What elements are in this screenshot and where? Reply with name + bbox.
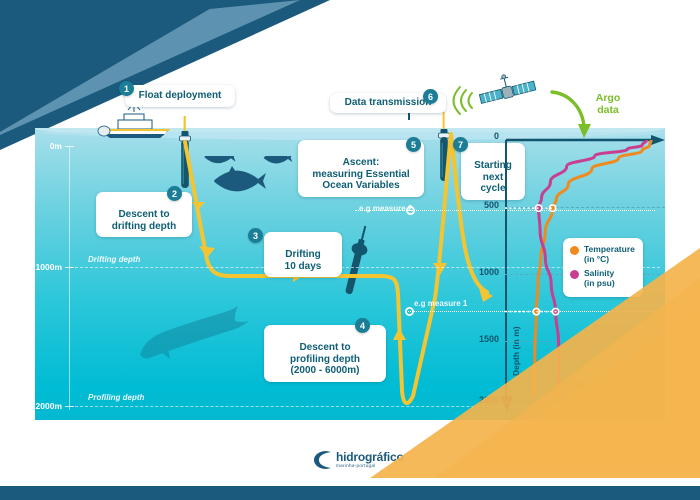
badge-step-4: 4 [355, 318, 370, 333]
callout-step-6-label: Data transmission [345, 97, 432, 108]
badge-step-3-number: 3 [253, 231, 258, 241]
callout-step-2-label: Descent to drifting depth [112, 209, 176, 232]
badge-step-3: 3 [248, 228, 263, 243]
legend-salinity-text: Salinity (in psu) [584, 268, 615, 289]
chart-legend: Temperature (in °C) Salinity (in psu) [563, 238, 643, 297]
drifting-depth-caption: Drifting depth [88, 255, 140, 264]
copyright-notice: © Thomas Haessig [573, 398, 638, 408]
callout-step-5-label: Ascent: measuring Essential Ocean Variab… [312, 157, 409, 192]
bottom-bar [0, 486, 700, 500]
legend-temperature-name: Temperature [584, 244, 635, 254]
infographic-canvas: 0m 1000m 2000m Drifting depth Profiling … [0, 0, 700, 500]
chart-measure-marker [533, 308, 539, 314]
legend-temperature-unit: (in °C) [584, 254, 609, 264]
chart-ytick-1500: 1500 [465, 334, 499, 344]
badge-step-5-number: 5 [411, 140, 416, 150]
badge-step-6-number: 6 [428, 92, 433, 102]
callout-step-3[interactable]: Drifting 10 days [264, 232, 342, 277]
chart-measure-marker [535, 205, 541, 211]
badge-step-7-number: 7 [458, 140, 463, 150]
badge-step-1: 1 [119, 81, 134, 96]
legend-salinity-name: Salinity [584, 268, 614, 278]
legend-salinity-unit: (in psu) [584, 278, 615, 288]
legend-item-salinity: Salinity (in psu) [570, 268, 635, 289]
top-right-spacer [610, 0, 700, 60]
legend-temperature-text: Temperature (in °C) [584, 244, 635, 265]
measure-1-label: e.g measure 1 [414, 299, 467, 308]
depth-tick-0 [65, 146, 74, 147]
satellite-icon [452, 74, 544, 118]
depth-label-1000: 1000m [20, 262, 62, 272]
callout-step-5[interactable]: Ascent: measuring Essential Ocean Variab… [298, 140, 424, 197]
temperature-swatch-icon [570, 246, 579, 255]
chart-ytick-1000: 1000 [465, 267, 499, 277]
badge-step-5: 5 [406, 137, 421, 152]
logo-mark-icon [312, 448, 334, 472]
callout-step-1-label: Float deployment [139, 90, 222, 101]
depth-label-0: 0m [20, 141, 62, 151]
badge-step-4-number: 4 [360, 321, 365, 331]
badge-step-2-number: 2 [172, 189, 177, 199]
argo-profile-chart: 0 500 1000 1500 2000 Depth (in m) Temper… [505, 140, 665, 408]
argo-data-label: Argo data [578, 92, 638, 116]
logo-text-block: hidrográfico marinha-portugal [336, 451, 404, 469]
profiling-depth-caption: Profiling depth [88, 393, 144, 402]
chart-ytick-2000: 2000 [465, 395, 499, 405]
callout-step-4-label: Descent to profiling depth (2000 - 6000m… [290, 342, 360, 377]
callout-step-4[interactable]: Descent to profiling depth (2000 - 6000m… [264, 325, 386, 382]
logo-subtitle: marinha-portugal [336, 464, 404, 469]
chart-ytick-500: 500 [465, 200, 499, 210]
depth-label-2000: 2000m [20, 401, 62, 411]
logo-title: hidrográfico [336, 451, 404, 463]
chart-ytick-0: 0 [465, 131, 499, 141]
callout-step-3-label: Drifting 10 days [285, 249, 322, 272]
badge-step-2: 2 [167, 186, 182, 201]
legend-item-temperature: Temperature (in °C) [570, 244, 635, 265]
callout-step-1[interactable]: Float deployment [125, 85, 235, 107]
depth-scale-axis [69, 146, 70, 410]
hidrografico-logo: hidrográfico marinha-portugal [312, 448, 404, 472]
badge-step-6: 6 [423, 89, 438, 104]
measure-2-label: e.g measure 2 [359, 204, 412, 213]
badge-step-1-number: 1 [124, 84, 129, 94]
salinity-swatch-icon [570, 270, 579, 279]
